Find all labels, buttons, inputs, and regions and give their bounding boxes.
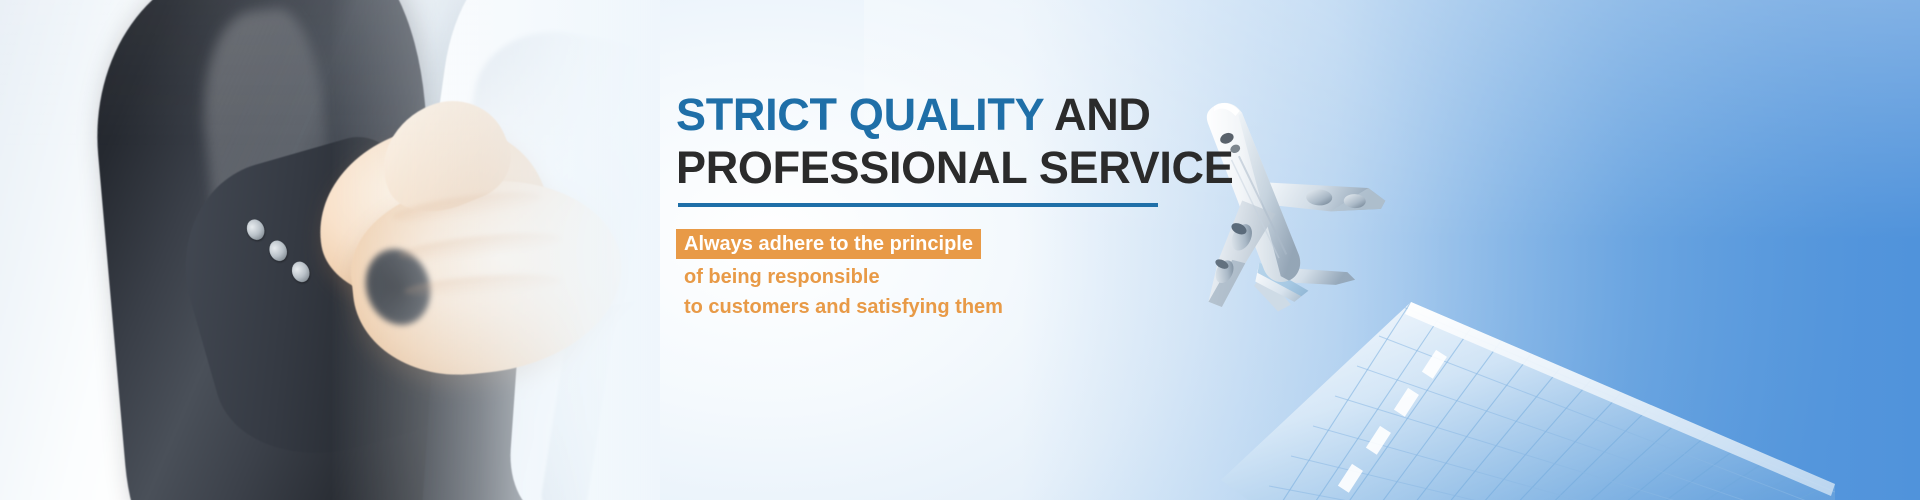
tagline-line-3: to customers and satisfying them <box>676 292 1003 322</box>
tagline-line-2: of being responsible <box>676 262 1003 292</box>
headline-line2: PROFESSIONAL SERVICE <box>676 142 1233 193</box>
headline-divider <box>678 203 1158 207</box>
tagline-line-1: Always adhere to the principle <box>676 229 981 259</box>
photo-right-fade <box>330 0 660 500</box>
headline-accent-text: STRICT QUALITY <box>676 89 1043 140</box>
promo-banner: STRICT QUALITY AND PROFESSIONAL SERVICE … <box>0 0 1920 500</box>
handshake-photo <box>0 0 660 500</box>
banner-copy: STRICT QUALITY AND PROFESSIONAL SERVICE … <box>676 0 1236 500</box>
headline-line1-rest: AND <box>1043 89 1150 140</box>
banner-tagline: Always adhere to the principle of being … <box>676 229 1003 322</box>
banner-headline: STRICT QUALITY AND PROFESSIONAL SERVICE <box>676 88 1233 194</box>
